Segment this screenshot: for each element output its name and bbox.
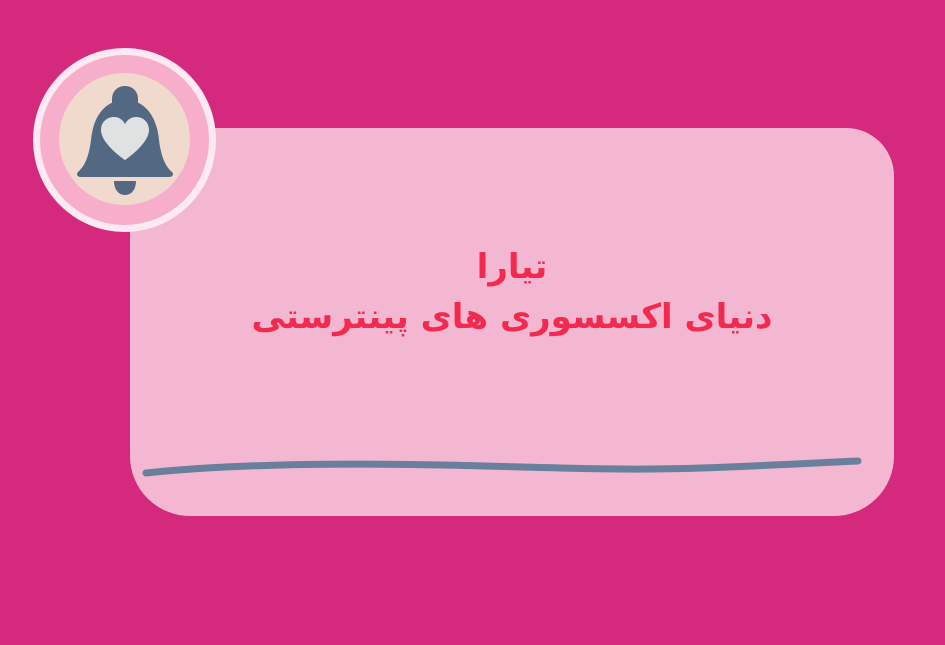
bell-badge <box>33 48 216 232</box>
wavy-underline-icon <box>142 452 862 486</box>
bell-heart-icon <box>73 84 177 196</box>
brand-tagline: دنیای اکسسوری های پینترستی <box>130 296 894 340</box>
poster-canvas: تیارا دنیای اکسسوری های پینترستی <box>0 0 945 645</box>
brand-text-block: تیارا دنیای اکسسوری های پینترستی <box>130 246 894 339</box>
content-card: تیارا دنیای اکسسوری های پینترستی <box>130 128 894 516</box>
brand-name: تیارا <box>130 246 894 290</box>
